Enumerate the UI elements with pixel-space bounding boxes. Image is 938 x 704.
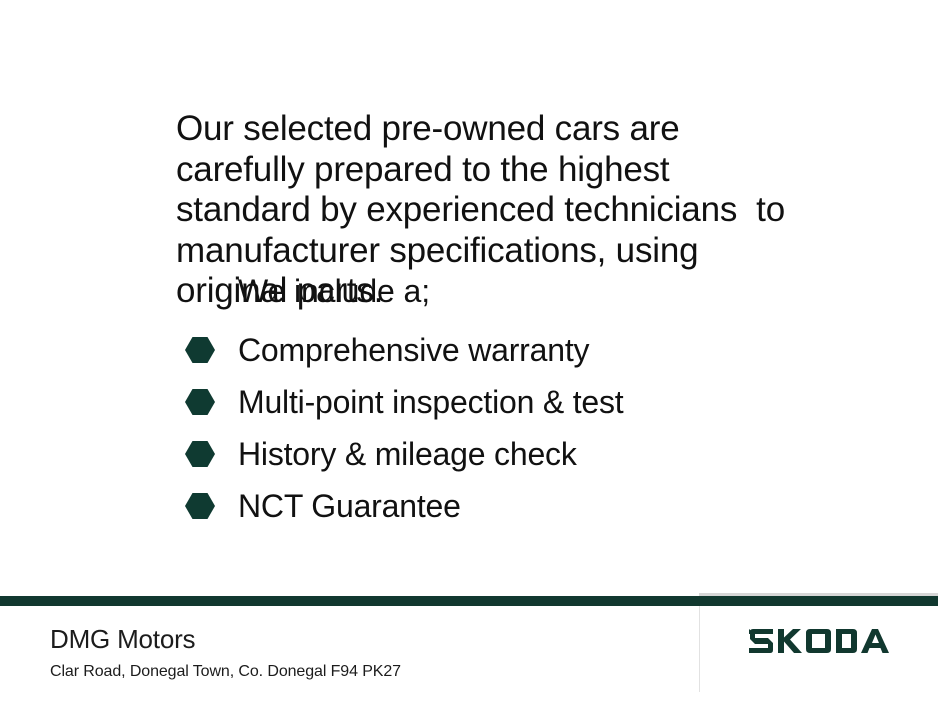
footer-bar: DMG Motors Clar Road, Donegal Town, Co. … bbox=[0, 606, 938, 704]
list-item: NCT Guarantee bbox=[185, 480, 805, 532]
list-item: History & mileage check bbox=[185, 428, 805, 480]
hexagon-bullet-icon bbox=[185, 441, 215, 467]
hexagon-bullet-icon bbox=[185, 337, 215, 363]
slide-canvas: Our selected pre-owned cars are carefull… bbox=[0, 0, 938, 704]
skoda-wordmark-logo bbox=[748, 626, 893, 656]
footer-green-rule bbox=[0, 596, 938, 606]
benefits-list: Comprehensive warranty Multi-point inspe… bbox=[185, 324, 805, 532]
list-item: Multi-point inspection & test bbox=[185, 376, 805, 428]
list-item-label: History & mileage check bbox=[238, 436, 577, 472]
dealer-address: Clar Road, Donegal Town, Co. Donegal F94… bbox=[50, 662, 401, 682]
list-item-label: NCT Guarantee bbox=[238, 488, 461, 524]
footer-vertical-divider bbox=[699, 606, 700, 692]
hexagon-bullet-icon bbox=[185, 389, 215, 415]
hexagon-bullet-icon bbox=[185, 493, 215, 519]
list-item-label: Multi-point inspection & test bbox=[238, 384, 624, 420]
list-item-label: Comprehensive warranty bbox=[238, 332, 589, 368]
include-intro-label: We include a; bbox=[238, 272, 430, 310]
dealer-name: DMG Motors bbox=[50, 624, 195, 655]
list-item: Comprehensive warranty bbox=[185, 324, 805, 376]
